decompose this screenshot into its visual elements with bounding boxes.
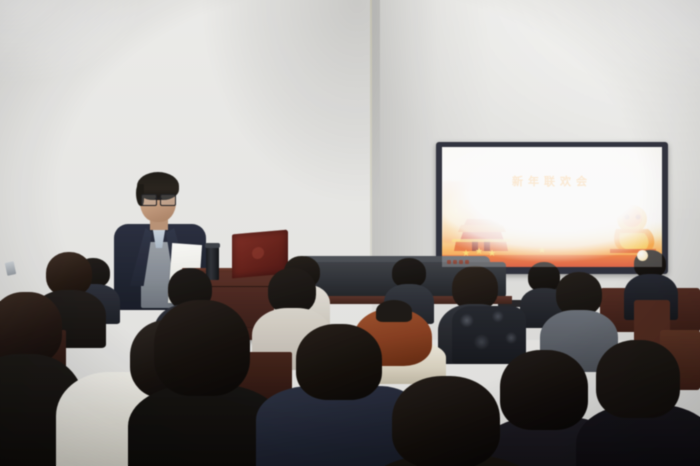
ceiling-light-glow-left: [0, 0, 200, 120]
slide-dot: [459, 260, 463, 264]
slide-star: ★: [488, 249, 496, 258]
head: [596, 340, 680, 418]
display-screen: ★ ★ ★ ★ 新年联欢会: [442, 147, 662, 267]
glasses-bridge: [155, 198, 162, 199]
tiananmen-gate-icon: [448, 199, 514, 253]
slide-dot: [453, 260, 457, 264]
head: [376, 300, 412, 322]
slide-title: 新年联欢会: [442, 173, 662, 189]
head: [296, 324, 382, 400]
slide-light-orb: [637, 250, 648, 261]
lecture-hall-photo: ★ ★ ★ ★ 新年联欢会: [0, 0, 700, 466]
glasses-lens-left: [141, 194, 157, 206]
slide-star: ★: [538, 246, 546, 255]
head: [392, 376, 500, 466]
slide-dot: [465, 260, 469, 264]
thermos-flask: [206, 246, 219, 280]
head: [500, 350, 588, 430]
slide-page-dots: [447, 260, 469, 264]
glasses-lens-right: [160, 194, 176, 206]
auspicious-cloud-icon: [524, 158, 580, 170]
slide-dot: [447, 260, 451, 264]
ceiling-light-glow-right: [540, 0, 700, 130]
glasses-icon: [141, 194, 176, 204]
golden-lion-statue-icon: [602, 199, 660, 255]
wall-corner-seam: [370, 0, 372, 300]
slide-star: ★: [475, 247, 483, 256]
camo-jacket-person: [452, 306, 526, 364]
head: [154, 300, 250, 396]
wall-display[interactable]: ★ ★ ★ ★ 新年联欢会: [436, 142, 668, 274]
thermos-cap: [205, 243, 220, 248]
